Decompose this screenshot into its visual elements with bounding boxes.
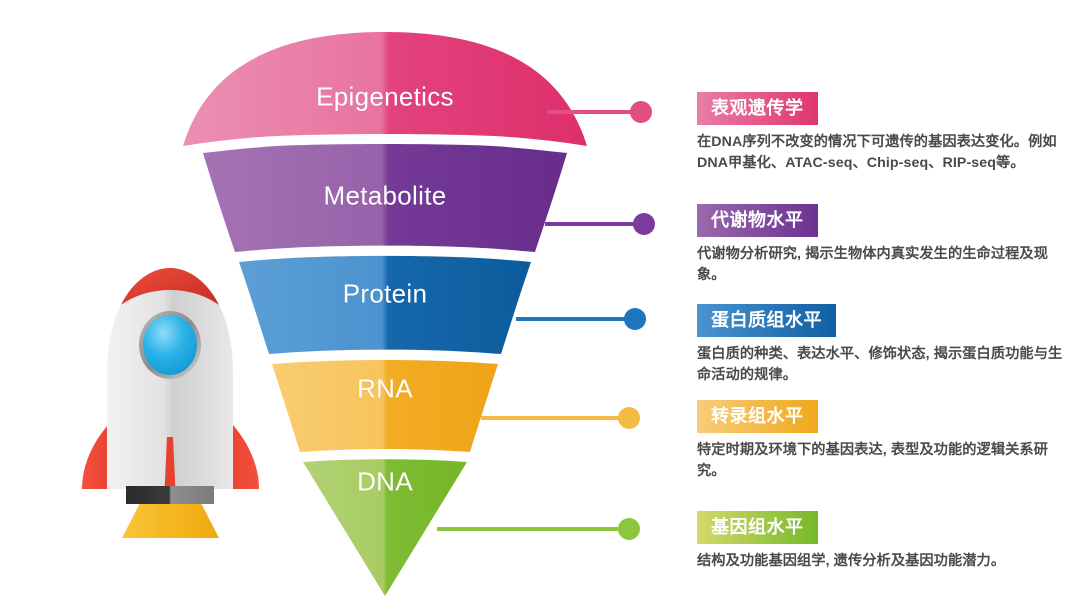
connector-dot-protein[interactable] [624, 308, 646, 330]
rocket-window-glass [143, 315, 197, 375]
badge-epigenetics: 表观遗传学 [697, 92, 818, 125]
connector-dot-metabolite[interactable] [633, 213, 655, 235]
badge-metabolite: 代谢物水平 [697, 204, 818, 237]
badge-protein: 蛋白质组水平 [697, 304, 836, 337]
info-block-epigenetics: 表观遗传学 在DNA序列不改变的情况下可遗传的基因表达变化。例如DNA甲基化、A… [697, 92, 1069, 174]
description-metabolite: 代谢物分析研究, 揭示生物体内真实发生的生命过程及现象。 [697, 244, 1065, 286]
connector-dot-dna[interactable] [618, 518, 640, 540]
description-rna: 特定时期及环境下的基因表达, 表型及功能的逻辑关系研究。 [697, 440, 1065, 482]
rocket-base-band [126, 486, 214, 504]
rocket-illustration [82, 268, 259, 538]
funnel-chart [183, 32, 587, 596]
badge-rna: 转录组水平 [697, 400, 818, 433]
badge-dna: 基因组水平 [697, 511, 818, 544]
funnel-segment-rna[interactable] [272, 360, 498, 452]
funnel-segment-epigenetics[interactable] [183, 32, 587, 146]
funnel-segment-metabolite[interactable] [203, 144, 567, 252]
connector-dot-epigenetics[interactable] [630, 101, 652, 123]
funnel-segment-protein[interactable] [239, 256, 531, 354]
info-block-rna: 转录组水平 特定时期及环境下的基因表达, 表型及功能的逻辑关系研究。 [697, 400, 1069, 482]
description-epigenetics: 在DNA序列不改变的情况下可遗传的基因表达变化。例如DNA甲基化、ATAC-se… [697, 132, 1065, 174]
info-block-protein: 蛋白质组水平 蛋白质的种类、表达水平、修饰状态, 揭示蛋白质功能与生命活动的规律… [697, 304, 1069, 386]
rocket-flame [122, 503, 219, 538]
connector-dot-rna[interactable] [618, 407, 640, 429]
infographic-canvas: Epigenetics Metabolite Protein RNA DNA 表… [0, 0, 1080, 607]
info-block-dna: 基因组水平 结构及功能基因组学, 遗传分析及基因功能潜力。 [697, 511, 1069, 572]
info-block-metabolite: 代谢物水平 代谢物分析研究, 揭示生物体内真实发生的生命过程及现象。 [697, 204, 1069, 286]
description-dna: 结构及功能基因组学, 遗传分析及基因功能潜力。 [697, 551, 1065, 572]
description-protein: 蛋白质的种类、表达水平、修饰状态, 揭示蛋白质功能与生命活动的规律。 [697, 344, 1065, 386]
